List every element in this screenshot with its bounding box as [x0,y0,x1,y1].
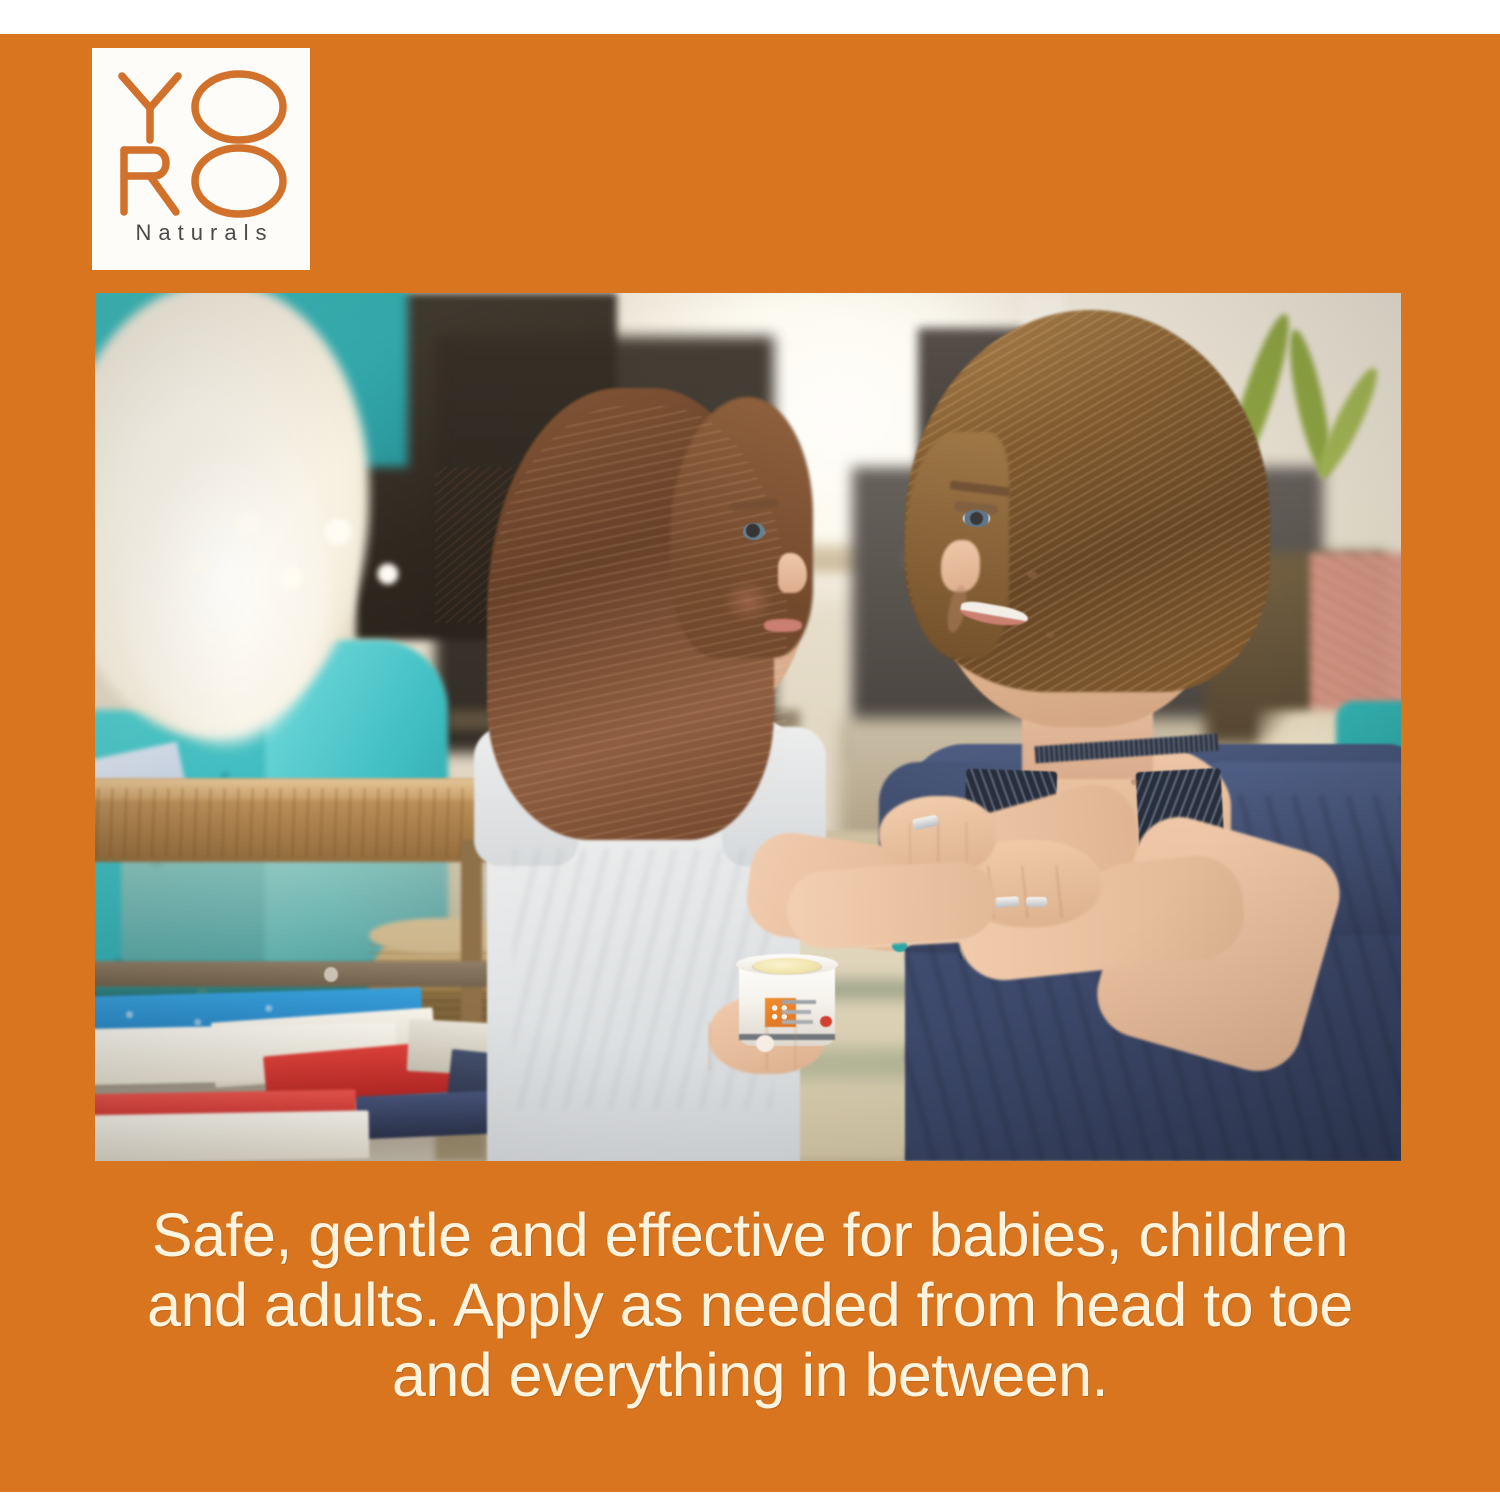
bottom-white-strip [0,1492,1500,1500]
photo-vignette [95,293,1401,1161]
caption-line-2: and adults. Apply as needed from head to… [100,1270,1400,1340]
product-lifestyle-banner: Naturals [0,0,1500,1500]
lifestyle-photo [95,293,1401,1161]
yoro-logotype-icon [110,60,292,218]
marketing-caption: Safe, gentle and effective for babies, c… [100,1200,1400,1410]
brand-tagline: Naturals [92,220,310,246]
brand-logo: Naturals [92,48,310,270]
caption-line-1: Safe, gentle and effective for babies, c… [100,1200,1400,1270]
caption-line-3: and everything in between. [100,1340,1400,1410]
